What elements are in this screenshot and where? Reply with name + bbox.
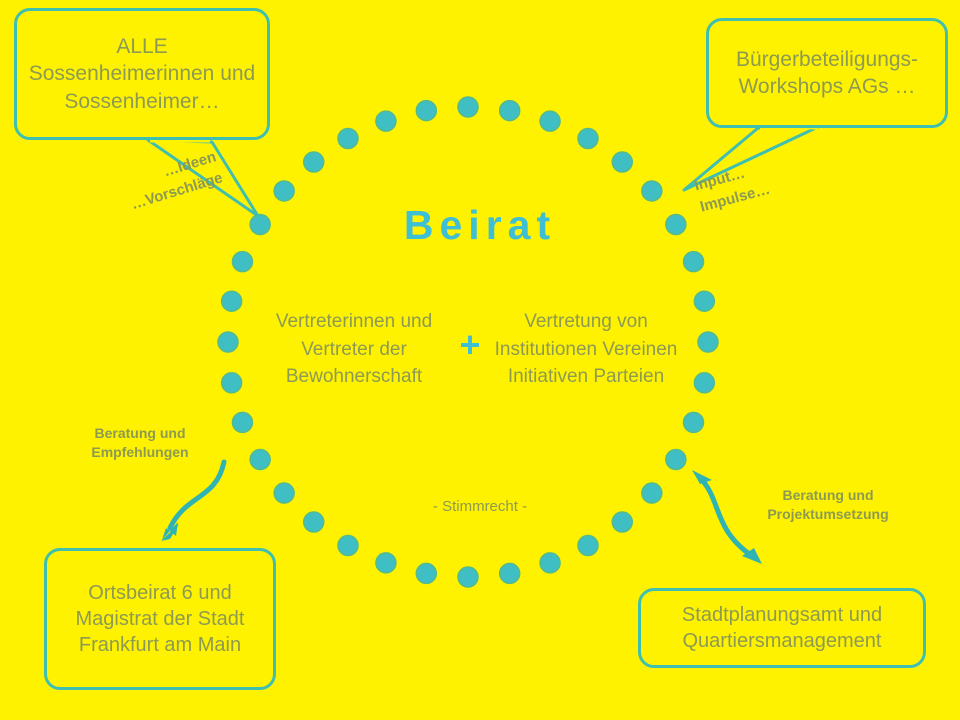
ring-dot — [642, 181, 662, 201]
ring-dot — [612, 152, 632, 172]
box-ortsbeirat-text: Ortsbeirat 6 und Magistrat der Stadt Fra… — [47, 576, 273, 662]
bubble-workshops-text: Bürgerbeteiligungs- Workshops AGs … — [709, 42, 945, 105]
ring-dot — [274, 181, 294, 201]
caption-beratung-projektumsetzung: Beratung und Projektumsetzung — [744, 486, 912, 524]
ring-dot — [304, 152, 324, 172]
center-column-bewohnerschaft: Vertreterinnen und Vertreter der Bewohne… — [258, 308, 450, 391]
box-stadtplanung-text: Stadtplanungsamt und Quartiersmanagement — [641, 598, 923, 658]
ring-dot — [578, 128, 598, 148]
arrow-left-advisory — [161, 462, 224, 541]
ring-dot — [458, 567, 478, 587]
diagram-canvas: ALLE Sossenheimerinnen und Sossenheimer…… — [0, 0, 960, 720]
ring-dot — [338, 128, 358, 148]
ring-dot — [304, 512, 324, 532]
ring-dot — [274, 483, 294, 503]
caption-beratung-empfehlungen: Beratung und Empfehlungen — [72, 424, 208, 462]
ring-dot — [416, 563, 436, 583]
ring-dot — [232, 412, 252, 432]
ring-dot — [694, 291, 714, 311]
ring-dot — [642, 483, 662, 503]
bubble-alle-sossenheimer[interactable]: ALLE Sossenheimerinnen und Sossenheimer… — [14, 8, 270, 140]
box-ortsbeirat-magistrat[interactable]: Ortsbeirat 6 und Magistrat der Stadt Fra… — [44, 548, 276, 690]
ring-dot — [376, 553, 396, 573]
ring-dot — [540, 553, 560, 573]
ring-dot — [666, 450, 686, 470]
ring-dot — [698, 332, 718, 352]
ring-dot — [612, 512, 632, 532]
ring-dot — [694, 373, 714, 393]
ring-dot — [250, 450, 270, 470]
bubble-alle-text: ALLE Sossenheimerinnen und Sossenheimer… — [17, 29, 267, 119]
ring-dot — [578, 536, 598, 556]
ring-dot — [376, 111, 396, 131]
ring-dot — [218, 332, 238, 352]
ring-dot — [338, 536, 358, 556]
center-column-institutionen: Vertretung von Institutionen Vereinen In… — [490, 308, 682, 391]
ring-dot — [222, 373, 242, 393]
center-footnote-stimmrecht: - Stimmrecht - — [330, 498, 630, 515]
ring-dot — [458, 97, 478, 117]
bubble-buergerbeteiligungs-workshops[interactable]: Bürgerbeteiligungs- Workshops AGs … — [706, 18, 948, 128]
ring-dot — [540, 111, 560, 131]
center-title-beirat: Beirat — [0, 202, 960, 249]
ring-dot — [232, 252, 252, 272]
ring-dot — [500, 101, 520, 121]
ring-dot — [684, 412, 704, 432]
ring-dot — [222, 291, 242, 311]
ring-dot — [416, 101, 436, 121]
box-stadtplanungsamt-quartiersmanagement[interactable]: Stadtplanungsamt und Quartiersmanagement — [638, 588, 926, 668]
ring-dot — [500, 563, 520, 583]
ring-dot — [684, 252, 704, 272]
